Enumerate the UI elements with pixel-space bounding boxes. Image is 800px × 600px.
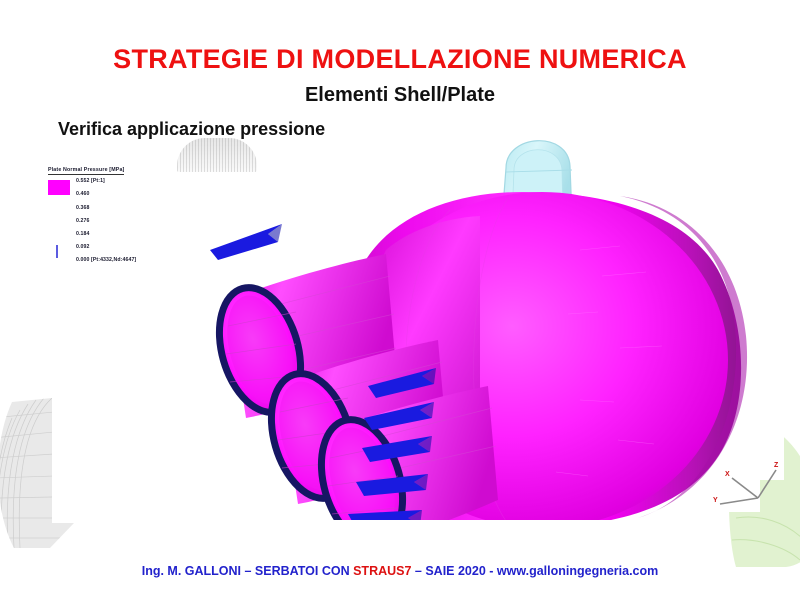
legend-tick-marker: [56, 245, 58, 258]
axis-label-x: X: [725, 471, 730, 478]
legend-value-label: 0.552 [Pt:1]: [76, 179, 105, 184]
footer-prefix: Ing. M. GALLONI – SERBATOI CON: [142, 564, 353, 578]
footer-highlight: STRAUS7: [353, 564, 411, 578]
fea-model-viewport[interactable]: [150, 100, 770, 520]
footer-suffix: – SAIE 2020 - www.galloningegneria.com: [411, 564, 658, 578]
page-title: STRATEGIE DI MODELLAZIONE NUMERICA: [0, 44, 800, 75]
legend-value-label: 0.092: [76, 245, 89, 250]
legend-title: Plate Normal Pressure [MPa]: [48, 168, 124, 175]
legend-value-label: 0.368: [76, 206, 89, 211]
legend-value-label: 0.000 [Pt:4332,Nd:4647]: [76, 258, 136, 263]
legend-value-label: 0.276: [76, 219, 89, 224]
legend-value-label: 0.460: [76, 192, 89, 197]
axis-triad-indicator: X Y Z: [706, 448, 790, 520]
slide-canvas: STRATEGIE DI MODELLAZIONE NUMERICA Eleme…: [0, 0, 800, 600]
legend-value-label: 0.184: [76, 232, 89, 237]
axis-label-y: Y: [713, 497, 718, 504]
ghost-mesh-bottom-left-icon: [0, 398, 88, 548]
footer-credit: Ing. M. GALLONI – SERBATOI CON STRAUS7 –…: [0, 564, 800, 578]
axis-label-z: Z: [774, 462, 778, 469]
